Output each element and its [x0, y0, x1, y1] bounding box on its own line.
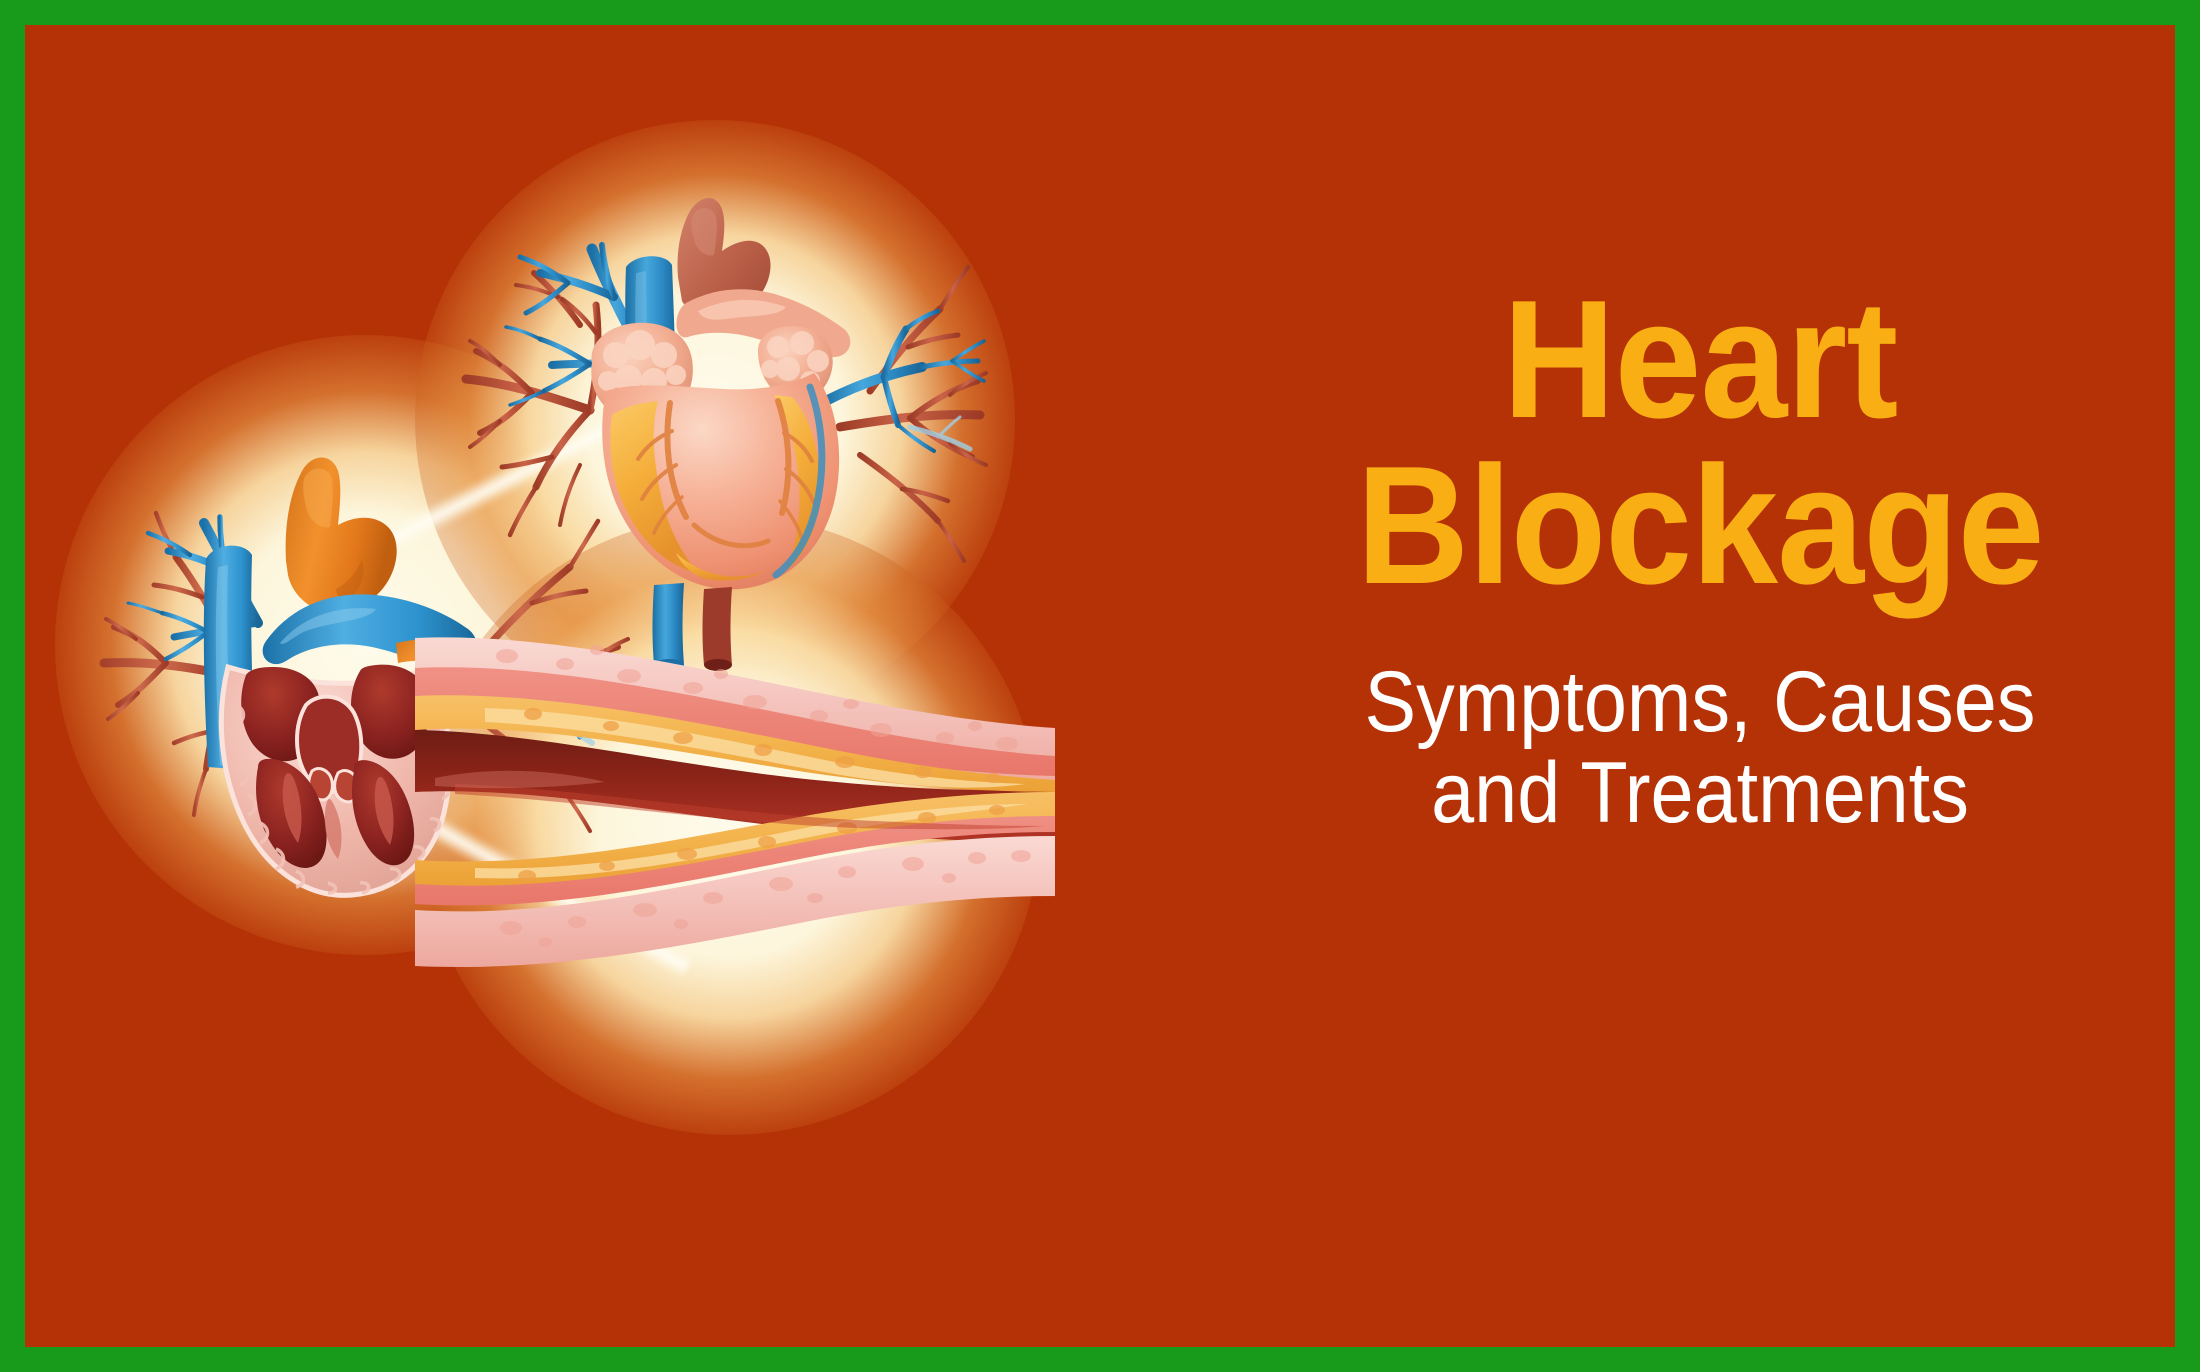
poster-canvas: Heart Blockage Symptoms, Causes and Trea… — [25, 25, 2175, 1347]
page-title-line1: Heart — [1291, 280, 2109, 440]
subtitle-line2: and Treatments — [1304, 748, 2096, 839]
poster-frame: Heart Blockage Symptoms, Causes and Trea… — [0, 0, 2200, 1372]
page-subtitle: Symptoms, Causes and Treatments — [1304, 657, 2096, 839]
page-title-line2: Blockage — [1291, 446, 2109, 606]
text-block: Heart Blockage Symptoms, Causes and Trea… — [1260, 280, 2140, 840]
subtitle-line1: Symptoms, Causes — [1304, 657, 2096, 748]
artery-plaque-illustration — [415, 580, 1055, 980]
